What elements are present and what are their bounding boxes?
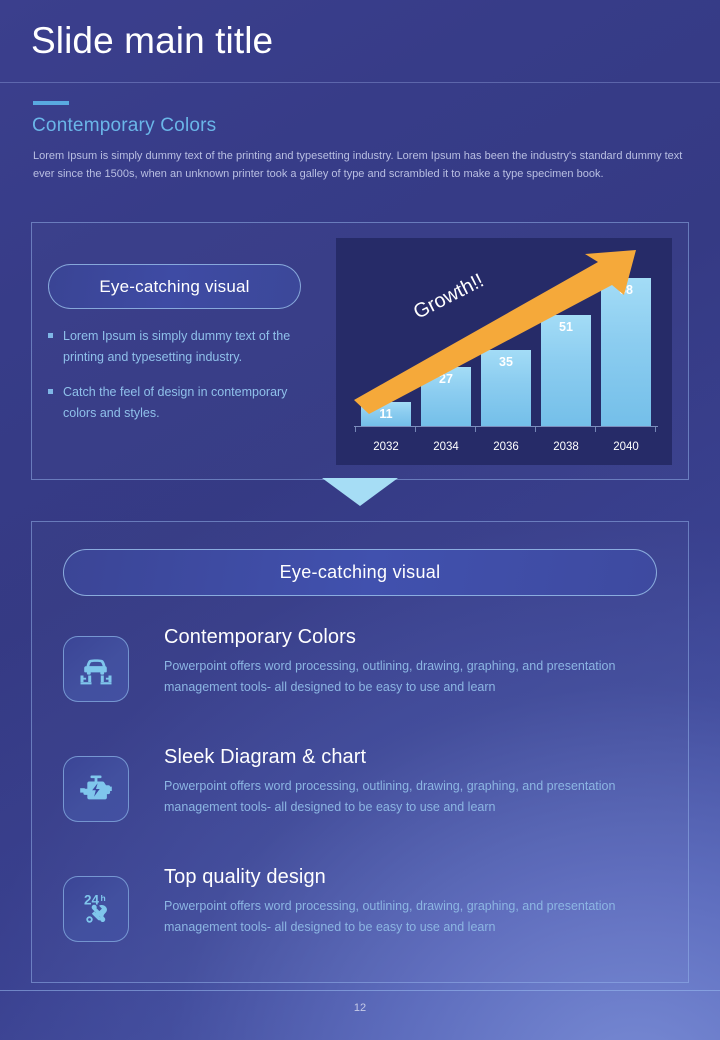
chart-x-axis-labels: 2032 2034 2036 2038 2040: [356, 441, 656, 453]
bar-value-label: 11: [379, 407, 392, 421]
bar-value-label: 51: [559, 320, 573, 334]
axis-tick-label: 2040: [601, 441, 651, 453]
feature-title: Contemporary Colors: [164, 624, 644, 651]
bar-value-label: 35: [499, 355, 513, 369]
eye-catching-visual-pill-top[interactable]: Eye-catching visual: [48, 264, 301, 309]
axis-tick-label: 2034: [421, 441, 471, 453]
car-on-lift-icon: [63, 636, 129, 702]
section-heading: Contemporary Colors: [32, 115, 216, 137]
slide-canvas: Slide main title Contemporary Colors Lor…: [0, 0, 720, 1040]
list-item[interactable]: Contemporary Colors Powerpoint offers wo…: [63, 624, 663, 702]
feature-description: Powerpoint offers word processing, outli…: [164, 776, 644, 818]
bar-column: 68: [601, 256, 651, 426]
bar: 35: [481, 350, 531, 426]
axis-tick-label: 2036: [481, 441, 531, 453]
eye-catching-visual-pill-bottom[interactable]: Eye-catching visual: [63, 549, 657, 596]
chevron-down-icon: [322, 478, 398, 506]
page-title: Slide main title: [31, 20, 273, 62]
bar-column: 35: [481, 256, 531, 426]
axis-tick-label: 2038: [541, 441, 591, 453]
growth-bar-chart: 11 27 35 51: [336, 238, 672, 465]
feature-description: Powerpoint offers word processing, outli…: [164, 896, 644, 938]
axis-tick: [655, 427, 656, 432]
svg-text:24: 24: [84, 893, 100, 908]
chart-plot-area: 11 27 35 51: [336, 238, 672, 465]
bar: 68: [601, 278, 651, 426]
section-body-text: Lorem Ipsum is simply dummy text of the …: [33, 148, 693, 183]
list-item[interactable]: Sleek Diagram & chart Powerpoint offers …: [63, 744, 663, 822]
24h-tools-icon: 24 h: [63, 876, 129, 942]
axis-tick: [595, 427, 596, 432]
pill-bottom-label: Eye-catching visual: [280, 562, 441, 583]
bar-value-label: 68: [619, 283, 633, 297]
chart-bars: 11 27 35 51: [356, 256, 656, 426]
axis-tick: [475, 427, 476, 432]
svg-text:h: h: [101, 893, 106, 903]
bullet-square-icon: [48, 389, 53, 394]
list-item[interactable]: 24 h Top quality design Powerpoint offer…: [63, 864, 663, 942]
list-item: Lorem Ipsum is simply dummy text of the …: [48, 326, 320, 368]
bullet-square-icon: [48, 333, 53, 338]
axis-tick: [415, 427, 416, 432]
axis-tick-label: 2032: [361, 441, 411, 453]
header-divider: [0, 82, 720, 83]
feature-text-block: Contemporary Colors Powerpoint offers wo…: [164, 624, 644, 698]
bullet-text: Catch the feel of design in contemporary…: [63, 382, 320, 424]
bar-value-label: 27: [439, 372, 453, 386]
pill-top-label: Eye-catching visual: [99, 277, 249, 297]
feature-description: Powerpoint offers word processing, outli…: [164, 656, 644, 698]
bar-column: 11: [361, 256, 411, 426]
axis-tick: [535, 427, 536, 432]
chart-x-axis: [354, 426, 658, 427]
bar: 51: [541, 315, 591, 426]
bar-column: 51: [541, 256, 591, 426]
page-number: 12: [0, 1002, 720, 1014]
bullet-text: Lorem Ipsum is simply dummy text of the …: [63, 326, 320, 368]
feature-text-block: Top quality design Powerpoint offers wor…: [164, 864, 644, 938]
car-engine-icon: [63, 756, 129, 822]
feature-title: Sleek Diagram & chart: [164, 744, 644, 771]
axis-tick: [355, 427, 356, 432]
footer-divider: [0, 990, 720, 991]
bar: 11: [361, 402, 411, 426]
feature-title: Top quality design: [164, 864, 644, 891]
list-item: Catch the feel of design in contemporary…: [48, 382, 320, 424]
slide-header: Slide main title: [0, 0, 720, 83]
bar: 27: [421, 367, 471, 426]
feature-text-block: Sleek Diagram & chart Powerpoint offers …: [164, 744, 644, 818]
bullet-list: Lorem Ipsum is simply dummy text of the …: [48, 326, 320, 438]
feature-list: Contemporary Colors Powerpoint offers wo…: [63, 624, 663, 984]
accent-dash: [33, 101, 69, 105]
